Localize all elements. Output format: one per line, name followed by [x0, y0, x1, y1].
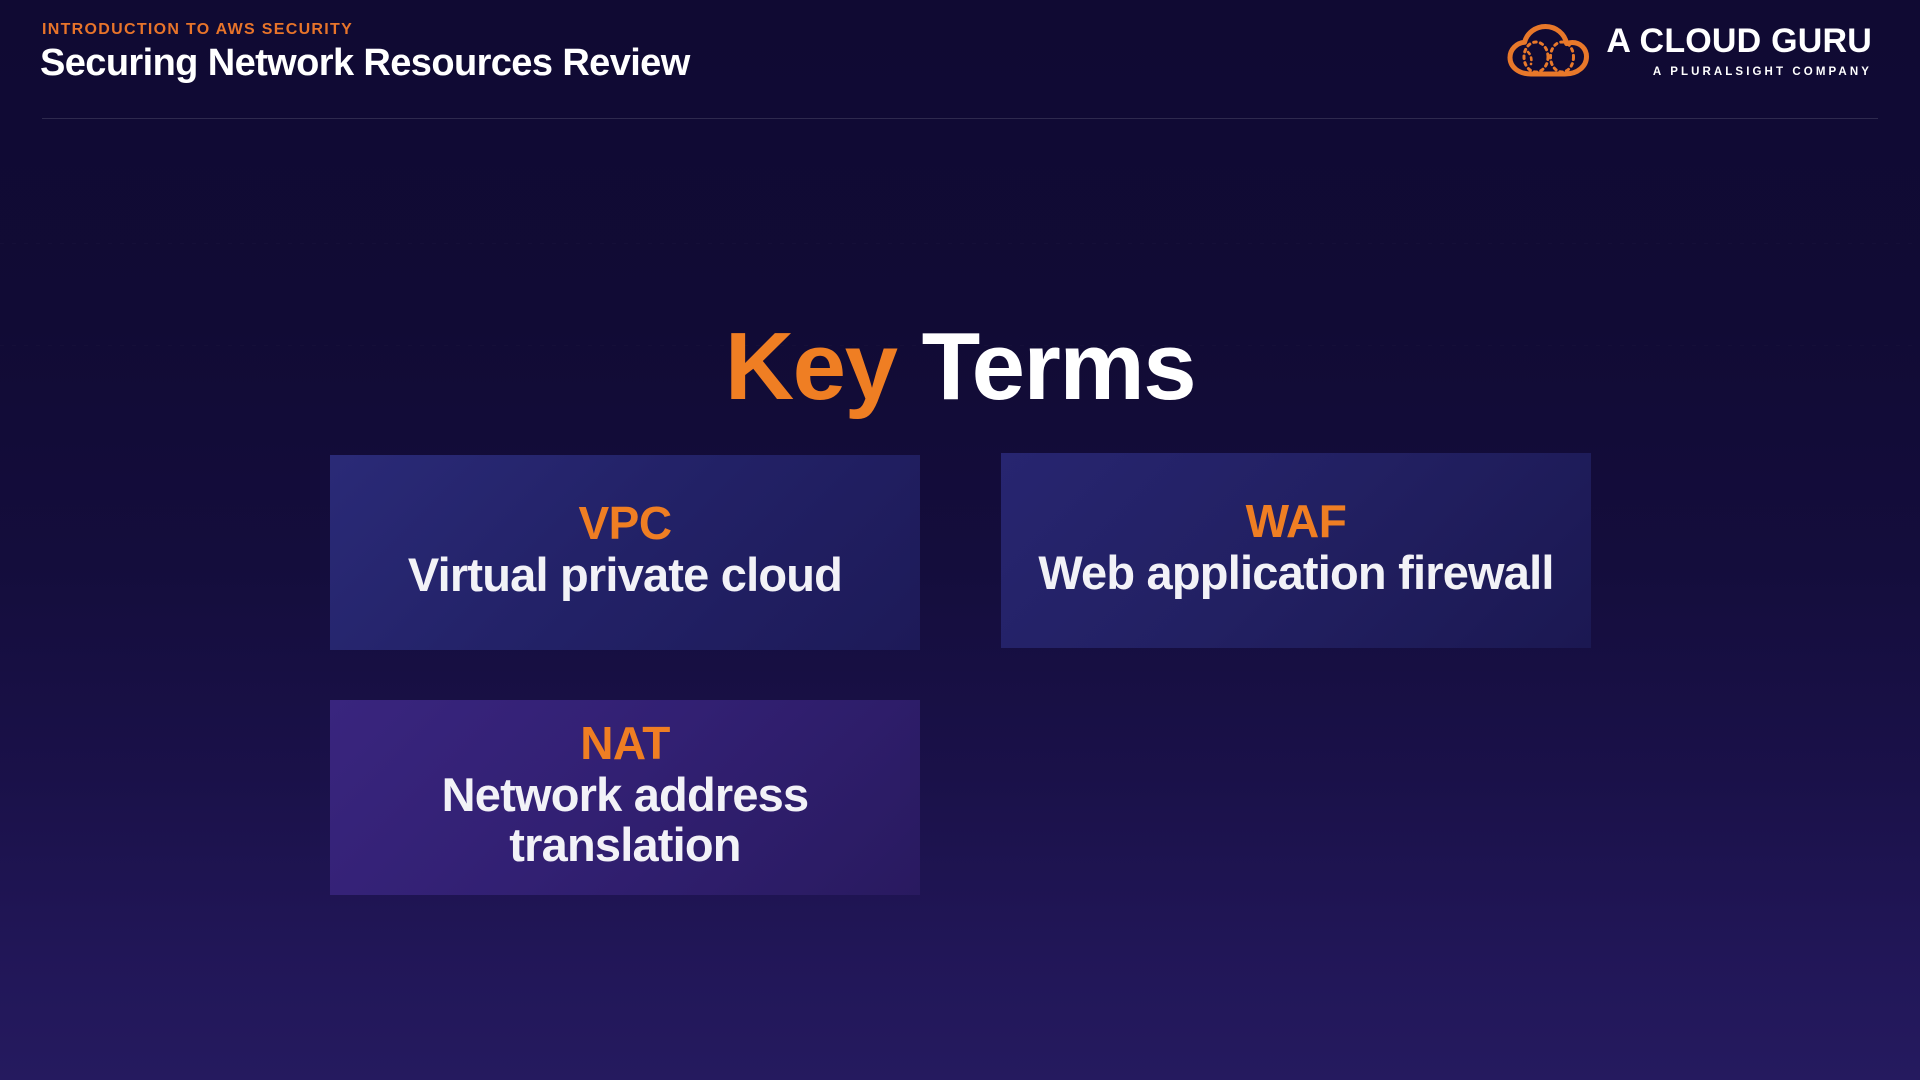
key-terms-grid: VPC Virtual private cloud WAF Web applic… [330, 455, 1592, 895]
term-card-vpc: VPC Virtual private cloud [330, 455, 920, 650]
term-abbreviation: WAF [1246, 497, 1347, 546]
page-title: Key Terms [0, 319, 1920, 415]
header-divider [42, 118, 1878, 119]
deck-title: Securing Network Resources Review [40, 42, 690, 85]
brand-tagline: A PLURALSIGHT COMPANY [1653, 66, 1872, 78]
term-abbreviation: NAT [580, 719, 670, 768]
cloud-logo-icon [1506, 22, 1590, 80]
page-title-plain: Terms [896, 313, 1195, 420]
brand-name: A CLOUD GURU [1606, 24, 1872, 60]
term-card-waf: WAF Web application firewall [1001, 453, 1591, 648]
slide-canvas: INTRODUCTION TO AWS SECURITY Securing Ne… [0, 0, 1920, 1080]
term-card-nat: NAT Network address translation [330, 700, 920, 895]
term-definition: Network address translation [354, 770, 896, 871]
brand-wordmark: A CLOUD GURU A PLURALSIGHT COMPANY [1606, 24, 1872, 78]
page-title-accent: Key [725, 313, 897, 420]
term-definition: Web application firewall [1038, 548, 1553, 598]
course-eyebrow: INTRODUCTION TO AWS SECURITY [42, 21, 353, 39]
brand-logo: A CLOUD GURU A PLURALSIGHT COMPANY [1506, 22, 1872, 80]
term-definition: Virtual private cloud [408, 550, 842, 600]
slide-header: INTRODUCTION TO AWS SECURITY Securing Ne… [0, 0, 1920, 120]
term-abbreviation: VPC [578, 499, 671, 548]
